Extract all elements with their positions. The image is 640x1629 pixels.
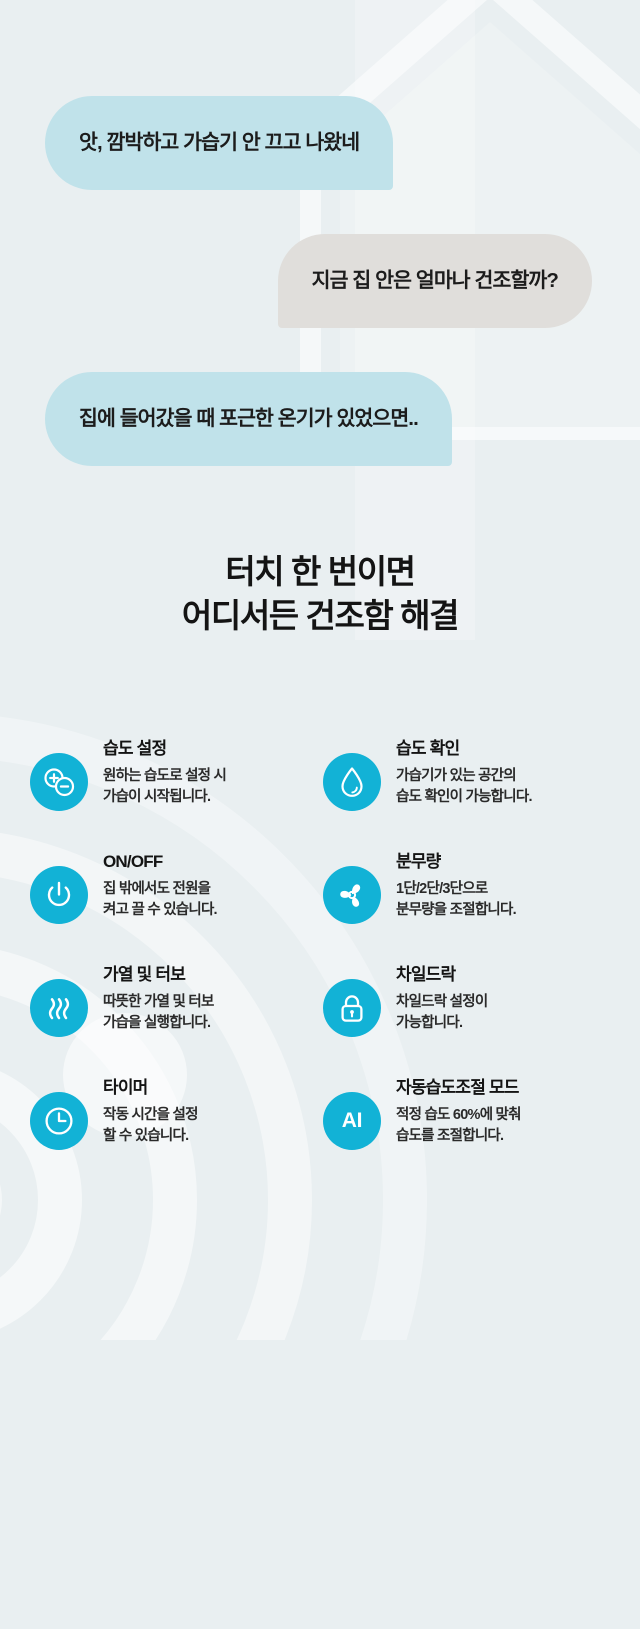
feature-item-humidity-setting: 습도 설정 원하는 습도로 설정 시 가습이 시작됩니다.	[30, 738, 319, 811]
feature-item-timer: 타이머 작동 시간을 설정 할 수 있습니다.	[30, 1077, 319, 1150]
feature-body: 차일드락 차일드락 설정이 가능합니다.	[396, 964, 487, 1034]
feature-body: 가열 및 터보 따뜻한 가열 및 터보 가습을 실행합니다.	[103, 964, 214, 1034]
feature-title: 차일드락	[396, 966, 487, 985]
feature-desc-line-1: 집 밖에서도 전원을	[103, 879, 217, 900]
chat-conversation: 앗, 깜박하고 가습기 안 끄고 나왔네 지금 집 안은 얼마나 건조할까? 집…	[0, 0, 640, 466]
feature-desc-line-1: 적정 습도 60%에 맞춰	[396, 1105, 521, 1126]
headline-line-2: 어디서든 건조함 해결	[0, 594, 640, 638]
steam-icon	[30, 979, 88, 1037]
feature-item-spray-amount: 분무량 1단/2단/3단으로 분무량을 조절합니다.	[323, 851, 612, 924]
feature-desc-line-1: 작동 시간을 설정	[103, 1105, 198, 1126]
feature-body: 분무량 1단/2단/3단으로 분무량을 조절합니다.	[396, 851, 516, 921]
feature-body: 습도 설정 원하는 습도로 설정 시 가습이 시작됩니다.	[103, 738, 226, 808]
water-drop-icon	[323, 753, 381, 811]
feature-body: 타이머 작동 시간을 설정 할 수 있습니다.	[103, 1077, 198, 1147]
feature-title: 타이머	[103, 1079, 198, 1098]
ai-icon: AI	[323, 1092, 381, 1150]
headline-line-1: 터치 한 번이면	[0, 550, 640, 594]
feature-desc-line-2: 켜고 끌 수 있습니다.	[103, 900, 217, 921]
chat-bubble-3: 집에 들어갔을 때 포근한 온기가 있었으면..	[45, 372, 452, 466]
humidity-setting-icon	[30, 753, 88, 811]
feature-desc-line-2: 습도 확인이 가능합니다.	[396, 787, 532, 808]
feature-description: 차일드락 설정이 가능합니다.	[396, 992, 487, 1034]
feature-desc-line-2: 가능합니다.	[396, 1013, 487, 1034]
feature-description: 따뜻한 가열 및 터보 가습을 실행합니다.	[103, 992, 214, 1034]
feature-title: 자동습도조절 모드	[396, 1079, 521, 1098]
feature-description: 1단/2단/3단으로 분무량을 조절합니다.	[396, 879, 516, 921]
feature-desc-line-2: 가습이 시작됩니다.	[103, 787, 226, 808]
feature-description: 적정 습도 60%에 맞춰 습도를 조절합니다.	[396, 1105, 521, 1147]
feature-title: 가열 및 터보	[103, 966, 214, 985]
fan-icon	[323, 866, 381, 924]
feature-item-humidity-check: 습도 확인 가습기가 있는 공간의 습도 확인이 가능합니다.	[323, 738, 612, 811]
chat-bubble-1-text: 앗, 깜박하고 가습기 안 끄고 나왔네	[79, 133, 359, 154]
feature-description: 원하는 습도로 설정 시 가습이 시작됩니다.	[103, 766, 226, 808]
chat-row-1: 앗, 깜박하고 가습기 안 끄고 나왔네	[0, 96, 640, 190]
chat-bubble-2-text: 지금 집 안은 얼마나 건조할까?	[312, 271, 558, 292]
feature-item-heat-turbo: 가열 및 터보 따뜻한 가열 및 터보 가습을 실행합니다.	[30, 964, 319, 1037]
feature-desc-line-1: 차일드락 설정이	[396, 992, 487, 1013]
feature-desc-line-1: 따뜻한 가열 및 터보	[103, 992, 214, 1013]
feature-body: 습도 확인 가습기가 있는 공간의 습도 확인이 가능합니다.	[396, 738, 532, 808]
feature-title: ON/OFF	[103, 853, 217, 872]
chat-row-3: 집에 들어갔을 때 포근한 온기가 있었으면..	[0, 372, 640, 466]
clock-icon	[30, 1092, 88, 1150]
chat-bubble-2: 지금 집 안은 얼마나 건조할까?	[278, 234, 592, 328]
feature-desc-line-2: 분무량을 조절합니다.	[396, 900, 516, 921]
feature-title: 습도 확인	[396, 740, 532, 759]
feature-desc-line-1: 1단/2단/3단으로	[396, 879, 516, 900]
feature-desc-line-1: 가습기가 있는 공간의	[396, 766, 532, 787]
feature-desc-line-2: 가습을 실행합니다.	[103, 1013, 214, 1034]
chat-bubble-1: 앗, 깜박하고 가습기 안 끄고 나왔네	[45, 96, 393, 190]
feature-title: 분무량	[396, 853, 516, 872]
feature-item-on-off: ON/OFF 집 밖에서도 전원을 켜고 끌 수 있습니다.	[30, 851, 319, 924]
feature-description: 집 밖에서도 전원을 켜고 끌 수 있습니다.	[103, 879, 217, 921]
chat-bubble-3-text: 집에 들어갔을 때 포근한 온기가 있었으면..	[79, 409, 418, 430]
feature-desc-line-2: 할 수 있습니다.	[103, 1126, 198, 1147]
feature-description: 작동 시간을 설정 할 수 있습니다.	[103, 1105, 198, 1147]
lock-icon	[323, 979, 381, 1037]
feature-description: 가습기가 있는 공간의 습도 확인이 가능합니다.	[396, 766, 532, 808]
page-headline: 터치 한 번이면 어디서든 건조함 해결	[0, 550, 640, 638]
chat-row-2: 지금 집 안은 얼마나 건조할까?	[0, 234, 640, 328]
feature-grid: 습도 설정 원하는 습도로 설정 시 가습이 시작됩니다. 습도 확인 가습기가…	[0, 738, 640, 1150]
feature-desc-line-1: 원하는 습도로 설정 시	[103, 766, 226, 787]
feature-desc-line-2: 습도를 조절합니다.	[396, 1126, 521, 1147]
feature-item-child-lock: 차일드락 차일드락 설정이 가능합니다.	[323, 964, 612, 1037]
ai-icon-label: AI	[342, 1109, 362, 1133]
feature-title: 습도 설정	[103, 740, 226, 759]
feature-body: 자동습도조절 모드 적정 습도 60%에 맞춰 습도를 조절합니다.	[396, 1077, 521, 1147]
feature-item-auto-humidity-mode: AI 자동습도조절 모드 적정 습도 60%에 맞춰 습도를 조절합니다.	[323, 1077, 612, 1150]
power-icon	[30, 866, 88, 924]
feature-body: ON/OFF 집 밖에서도 전원을 켜고 끌 수 있습니다.	[103, 851, 217, 921]
